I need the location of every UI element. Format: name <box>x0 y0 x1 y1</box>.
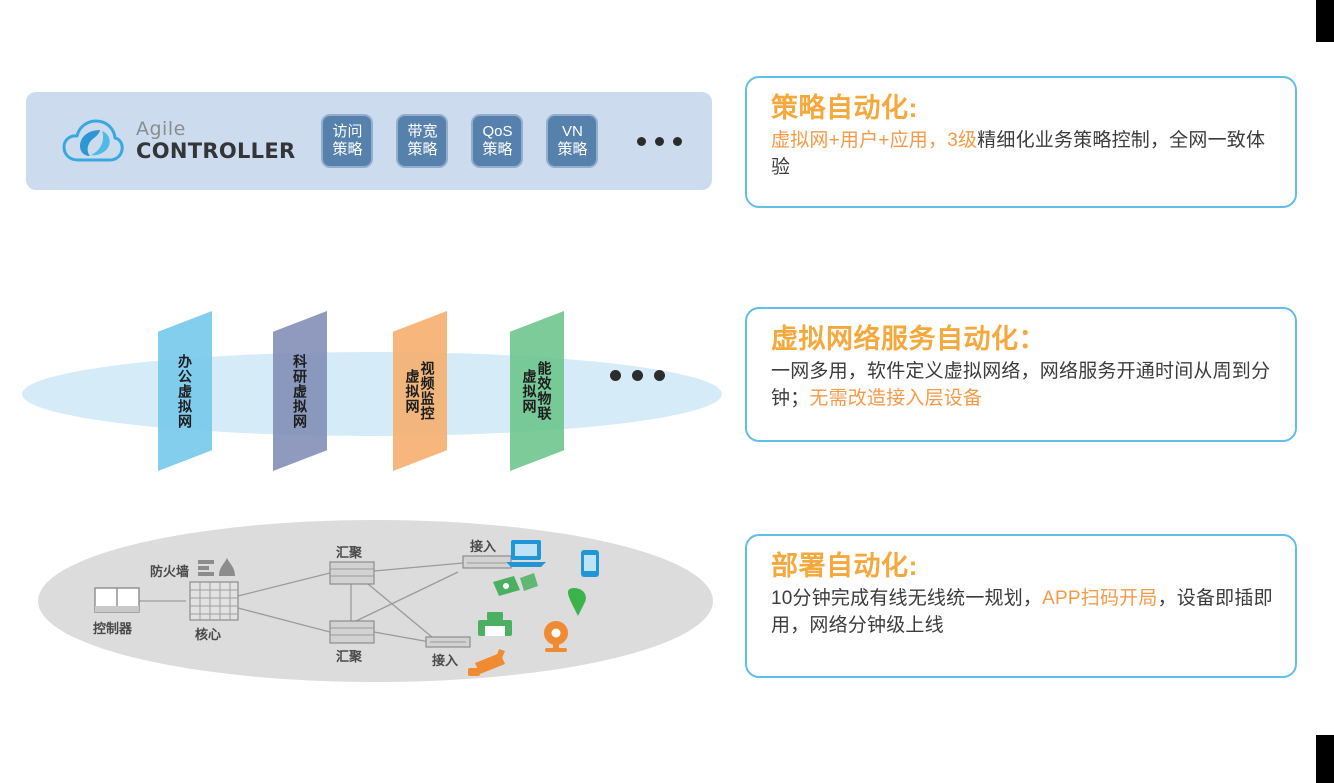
virtual-network-backdrop-ellipse <box>22 352 722 436</box>
policy-chip-vn[interactable]: VN 策略 <box>546 114 598 168</box>
policy-chip-vn-line2: 策略 <box>557 141 587 159</box>
feature-card-policy-body: 虚拟网+用户+应用，3级精细化业务策略控制，全网一致体验 <box>771 128 1277 182</box>
virtual-network-slab-office-label: 办公虚拟网 <box>158 311 212 471</box>
aggregation-switch-bottom-icon <box>330 621 374 643</box>
access-switch-bottom-icon <box>426 637 470 647</box>
slab-energy-text-col2: 虚拟网 <box>523 369 537 414</box>
cloud-swirl-icon <box>62 116 124 166</box>
edge-strip-top <box>1316 0 1334 42</box>
topology-label-access-bottom: 接入 <box>432 650 458 669</box>
deploy-body-part-2: APP扫码开局 <box>1042 588 1157 609</box>
network-topology-diagram: 控制器 防火墙 核心 汇聚 汇聚 接入 接入 <box>38 520 718 685</box>
feature-card-deploy-title: 部署自动化: <box>771 550 1277 584</box>
slab-office-text-col1: 办公虚拟网 <box>178 354 192 429</box>
core-switch-device-icon <box>190 582 238 620</box>
policy-chip-list: 访问 策略 带宽 策略 QoS 策略 VN 策略 <box>321 114 682 168</box>
virtual-network-diagram: 办公虚拟网 科研虚拟网 虚拟网 视频监控 虚拟网 能效物联 <box>10 285 722 505</box>
edge-strip-bottom <box>1316 735 1334 783</box>
tablet-endpoint-icon <box>581 550 599 577</box>
firewall-device-icon <box>198 558 235 576</box>
policy-chip-access[interactable]: 访问 策略 <box>321 114 373 168</box>
feature-card-deploy-body: 10分钟完成有线无线统一规划，APP扫码开局，设备即插即用，网络分钟级上线 <box>771 586 1277 640</box>
policy-chip-vn-line1: VN <box>562 123 583 141</box>
virtual-network-slab-research-label: 科研虚拟网 <box>273 311 327 471</box>
feature-card-policy-title: 策略自动化: <box>771 92 1277 126</box>
printer-endpoint-icon <box>478 612 512 636</box>
topology-label-aggregation-bottom: 汇聚 <box>336 646 362 665</box>
policy-chip-bandwidth-line1: 带宽 <box>407 123 437 141</box>
policy-more-ellipsis-icon[interactable] <box>637 137 682 146</box>
agile-controller-bar: Agile CONTROLLER 访问 策略 带宽 策略 QoS 策略 VN 策… <box>26 92 712 190</box>
virtual-network-slab-video-label: 虚拟网 视频监控 <box>393 311 447 471</box>
controller-device-icon <box>95 588 139 612</box>
policy-chip-qos-line1: QoS <box>482 123 512 141</box>
virtual-network-more-ellipsis-icon[interactable] <box>610 370 665 381</box>
logo-controller-text: CONTROLLER <box>136 141 295 162</box>
policy-chip-qos[interactable]: QoS 策略 <box>471 114 523 168</box>
topology-label-aggregation-top: 汇聚 <box>336 542 362 561</box>
virtual-network-slab-energy-label: 虚拟网 能效物联 <box>510 311 564 471</box>
policy-body-part-1: 虚拟网+用户+应用，3级 <box>771 130 977 151</box>
slide-canvas: Agile CONTROLLER 访问 策略 带宽 策略 QoS 策略 VN 策… <box>0 0 1334 783</box>
feature-card-deployment-automation: 部署自动化: 10分钟完成有线无线统一规划，APP扫码开局，设备即插即用，网络分… <box>745 534 1297 678</box>
webcam-endpoint-icon <box>544 621 568 652</box>
feature-card-virtual-network-automation: 虚拟网络服务自动化： 一网多用，软件定义虚拟网络，网络服务开通时间从周到分钟；无… <box>745 307 1297 442</box>
policy-chip-qos-line2: 策略 <box>482 141 512 159</box>
light-bulb-endpoint-icon <box>568 588 586 616</box>
slab-video-text-col2: 虚拟网 <box>406 369 420 414</box>
slab-video-text-col1: 视频监控 <box>421 361 435 421</box>
policy-chip-access-line2: 策略 <box>332 141 362 159</box>
vn-body-part-2: 无需改造接入层设备 <box>809 388 982 409</box>
feature-card-vn-body: 一网多用，软件定义虚拟网络，网络服务开通时间从周到分钟；无需改造接入层设备 <box>771 359 1277 413</box>
agile-controller-logo: Agile CONTROLLER <box>62 116 295 166</box>
logo-agile-text: Agile <box>136 120 295 139</box>
slab-research-text-col1: 科研虚拟网 <box>293 354 307 429</box>
topology-label-controller: 控制器 <box>93 618 132 637</box>
deploy-body-part-1: 10分钟完成有线无线统一规划， <box>771 588 1042 609</box>
aggregation-switch-top-icon <box>330 562 374 584</box>
laptop-endpoint-icon <box>506 540 546 567</box>
slab-energy-text-col1: 能效物联 <box>538 361 552 421</box>
wireless-ap-endpoint-icon <box>493 573 538 596</box>
topology-label-core: 核心 <box>195 624 221 643</box>
policy-chip-bandwidth[interactable]: 带宽 策略 <box>396 114 448 168</box>
access-switch-top-icon <box>463 556 511 568</box>
feature-card-policy-automation: 策略自动化: 虚拟网+用户+应用，3级精细化业务策略控制，全网一致体验 <box>745 76 1297 208</box>
cctv-camera-endpoint-icon <box>468 649 505 676</box>
policy-chip-bandwidth-line2: 策略 <box>407 141 437 159</box>
topology-label-firewall: 防火墙 <box>150 561 189 580</box>
policy-chip-access-line1: 访问 <box>332 123 362 141</box>
topology-links-and-devices <box>38 520 718 685</box>
feature-card-vn-title: 虚拟网络服务自动化： <box>771 323 1277 357</box>
topology-label-access-top: 接入 <box>470 536 496 555</box>
